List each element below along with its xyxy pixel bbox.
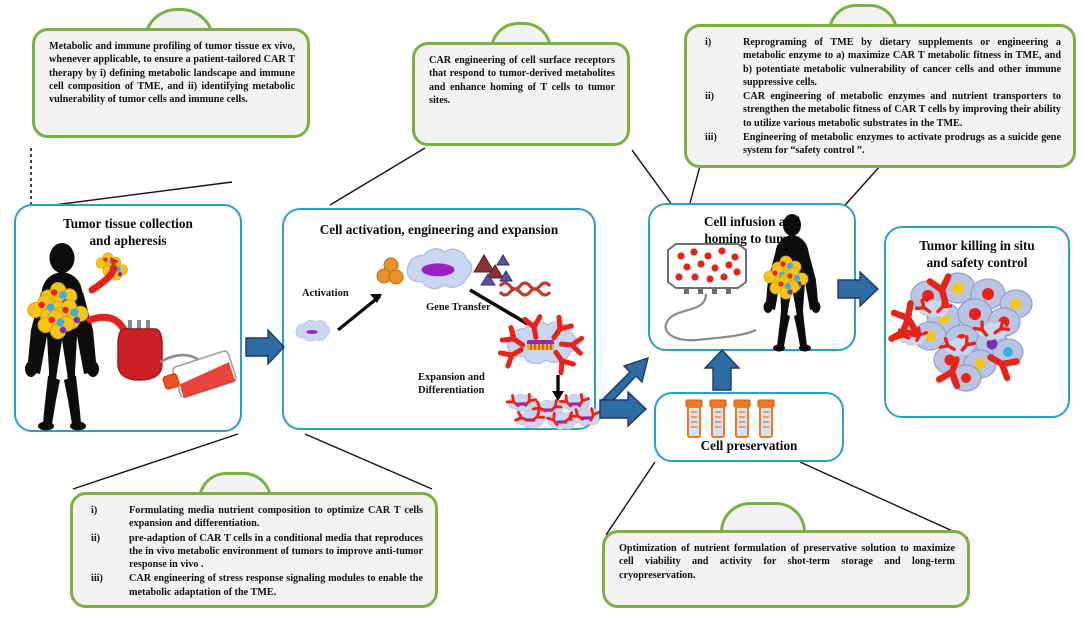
title-line-2: homing to tumor bbox=[704, 231, 799, 246]
list-marker: ii) bbox=[705, 90, 743, 130]
list-item: ii) pre-adaption of CAR T cells in a con… bbox=[91, 532, 423, 572]
callout-tme-reprograming: i) Reprograming of TME by dietary supple… bbox=[684, 24, 1076, 168]
panel-title-killing: Tumor killing in situ and safety control bbox=[886, 238, 1068, 271]
connector-tme-to-infusion bbox=[690, 166, 700, 203]
connector-receptors-left bbox=[330, 148, 425, 205]
list-text: Reprograming of TME by dietary supplemen… bbox=[743, 36, 1061, 89]
panel-tumor-killing[interactable]: Tumor killing in situ and safety control bbox=[884, 226, 1070, 418]
list-item: ii) CAR engineering of metabolic enzymes… bbox=[705, 90, 1061, 130]
title-line-1: Tumor tissue collection bbox=[63, 216, 193, 231]
list-item: i) Reprograming of TME by dietary supple… bbox=[705, 36, 1061, 89]
callout-tumor-profiling-text: Metabolic and immune profiling of tumor … bbox=[49, 40, 295, 106]
list-item: iii) CAR engineering of stress response … bbox=[91, 572, 423, 599]
callout-tme-body: i) Reprograming of TME by dietary supple… bbox=[705, 36, 1061, 158]
connector-receptors-right bbox=[632, 150, 672, 205]
panel-cell-infusion[interactable]: Cell infusion and homing to tumor bbox=[648, 203, 856, 351]
callout-media-list: i) Formulating media nutrient compositio… bbox=[91, 504, 423, 599]
callout-preservative-solution: Optimization of nutrient formulation of … bbox=[602, 530, 970, 608]
title-line-2: and safety control bbox=[927, 255, 1028, 270]
title-line-1: Cell activation, engineering and expansi… bbox=[320, 222, 559, 237]
callout-tumor-profiling: Metabolic and immune profiling of tumor … bbox=[32, 28, 310, 138]
title-line-1: Cell preservation bbox=[701, 438, 798, 453]
list-text: CAR engineering of metabolic enzymes and… bbox=[743, 90, 1061, 130]
list-marker: i) bbox=[705, 36, 743, 89]
callout-media-formulation: i) Formulating media nutrient compositio… bbox=[70, 492, 438, 608]
callout-car-receptors: CAR engineering of cell surface receptor… bbox=[412, 42, 630, 146]
panel-tumor-collection[interactable]: Tumor tissue collection and apheresis bbox=[14, 204, 242, 432]
panel-cell-preservation[interactable]: Cell preservation bbox=[654, 392, 844, 462]
panel-title-activation: Cell activation, engineering and expansi… bbox=[284, 222, 594, 239]
callout-car-receptors-text: CAR engineering of cell surface receptor… bbox=[429, 54, 615, 107]
list-text: Formulating media nutrient composition t… bbox=[129, 504, 423, 531]
connector-media-right bbox=[305, 434, 432, 489]
list-text: CAR engineering of stress response signa… bbox=[129, 572, 423, 599]
callout-handle-preservative bbox=[720, 502, 806, 532]
panel-cell-activation[interactable]: Cell activation, engineering and expansi… bbox=[282, 208, 596, 430]
list-item: iii) Engineering of metabolic enzymes to… bbox=[705, 131, 1061, 158]
list-marker: ii) bbox=[91, 532, 129, 572]
list-marker: i) bbox=[91, 504, 129, 531]
title-line-1: Tumor killing in situ bbox=[919, 238, 1034, 253]
callout-preservative-text: Optimization of nutrient formulation of … bbox=[619, 542, 955, 582]
label-expansion-differentiation: Expansion and Differentiation bbox=[418, 372, 485, 397]
panel-title-infusion: Cell infusion and homing to tumor bbox=[650, 214, 854, 247]
list-text: pre-adaption of CAR T cells in a conditi… bbox=[129, 532, 423, 572]
label-line-2: Differentiation bbox=[418, 385, 484, 396]
callout-media-body: i) Formulating media nutrient compositio… bbox=[91, 504, 423, 600]
list-marker: iii) bbox=[705, 131, 743, 158]
connector-preserve-right bbox=[800, 462, 968, 538]
title-line-2: and apheresis bbox=[89, 233, 166, 248]
label-gene-transfer: Gene Transfer bbox=[426, 302, 491, 315]
figure-canvas: Metabolic and immune profiling of tumor … bbox=[0, 0, 1084, 618]
connector-preserve-left bbox=[606, 462, 655, 535]
label-activation: Activation bbox=[302, 288, 349, 301]
title-line-1: Cell infusion and bbox=[704, 214, 800, 229]
panel-title-collection: Tumor tissue collection and apheresis bbox=[16, 216, 240, 249]
label-line-1: Expansion and bbox=[418, 372, 485, 383]
list-marker: iii) bbox=[91, 572, 129, 599]
callout-tme-list: i) Reprograming of TME by dietary supple… bbox=[705, 36, 1061, 157]
list-text: Engineering of metabolic enzymes to acti… bbox=[743, 131, 1061, 158]
list-item: i) Formulating media nutrient compositio… bbox=[91, 504, 423, 531]
panel-title-preservation: Cell preservation bbox=[656, 438, 842, 455]
